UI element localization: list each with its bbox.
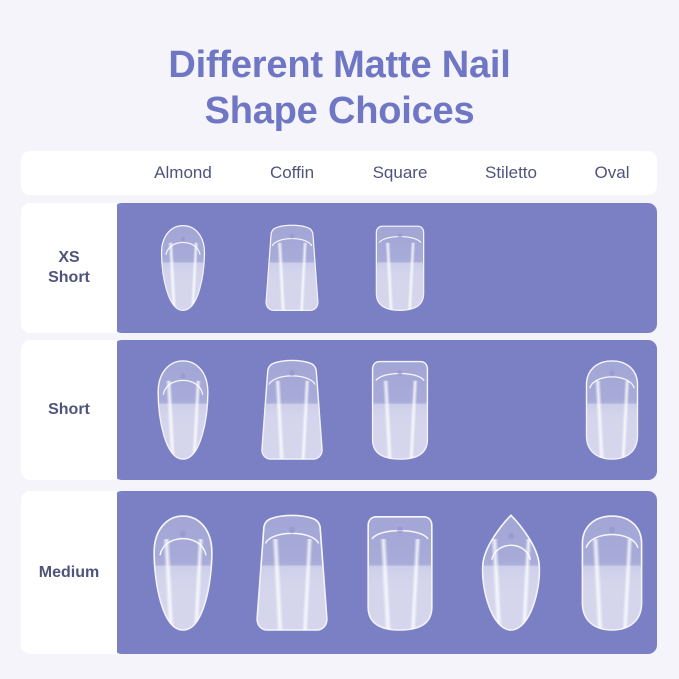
nail-cell-xs-short-almond <box>138 203 228 333</box>
nail-cell-medium-almond <box>138 491 228 654</box>
column-header-coffin: Coffin <box>232 151 352 195</box>
row-label-card-medium: Medium <box>21 491 117 654</box>
column-header-oval: Oval <box>552 151 672 195</box>
nail-cell-medium-oval <box>567 491 657 654</box>
nail-tip-square <box>369 224 431 312</box>
nail-tip-square <box>368 359 432 461</box>
table-row-short: Short <box>21 340 657 480</box>
row-label-card-xs-short: XS Short <box>21 203 117 333</box>
column-header-square: Square <box>340 151 460 195</box>
page-title-line-1: Different Matte Nail <box>0 42 679 88</box>
nail-cell-short-square <box>355 340 445 480</box>
nail-cell-short-coffin <box>247 340 337 480</box>
nail-cell-medium-stiletto <box>466 491 556 654</box>
row-label-xs-short: XS Short <box>48 248 90 288</box>
table-row-xs-short: XS Short <box>21 203 657 333</box>
nail-tip-coffin <box>255 512 329 634</box>
column-header-almond: Almond <box>123 151 243 195</box>
nail-tip-oval <box>575 512 649 634</box>
nail-tip-coffin <box>261 224 323 312</box>
column-header-bar: AlmondCoffinSquareStilettoOval <box>21 151 657 195</box>
table-row-medium: Medium <box>21 491 657 654</box>
nail-tip-coffin <box>260 359 324 461</box>
nail-cell-short-almond <box>138 340 228 480</box>
nail-tip-almond <box>152 224 214 312</box>
row-label-medium: Medium <box>39 563 99 583</box>
nail-cell-xs-short-coffin <box>247 203 337 333</box>
nail-cell-medium-coffin <box>247 491 337 654</box>
row-label-short: Short <box>48 400 90 420</box>
nail-tip-almond <box>146 512 220 634</box>
nail-cell-short-oval <box>567 340 657 480</box>
nail-tip-almond <box>151 359 215 461</box>
nail-tip-oval <box>580 359 644 461</box>
nail-tip-square <box>363 512 437 634</box>
nail-cell-medium-square <box>355 491 445 654</box>
page-title-line-2: Shape Choices <box>0 88 679 134</box>
row-label-card-short: Short <box>21 340 117 480</box>
nail-tip-stiletto <box>474 512 548 634</box>
page-title: Different Matte Nail Shape Choices <box>0 42 679 134</box>
nail-cell-xs-short-square <box>355 203 445 333</box>
